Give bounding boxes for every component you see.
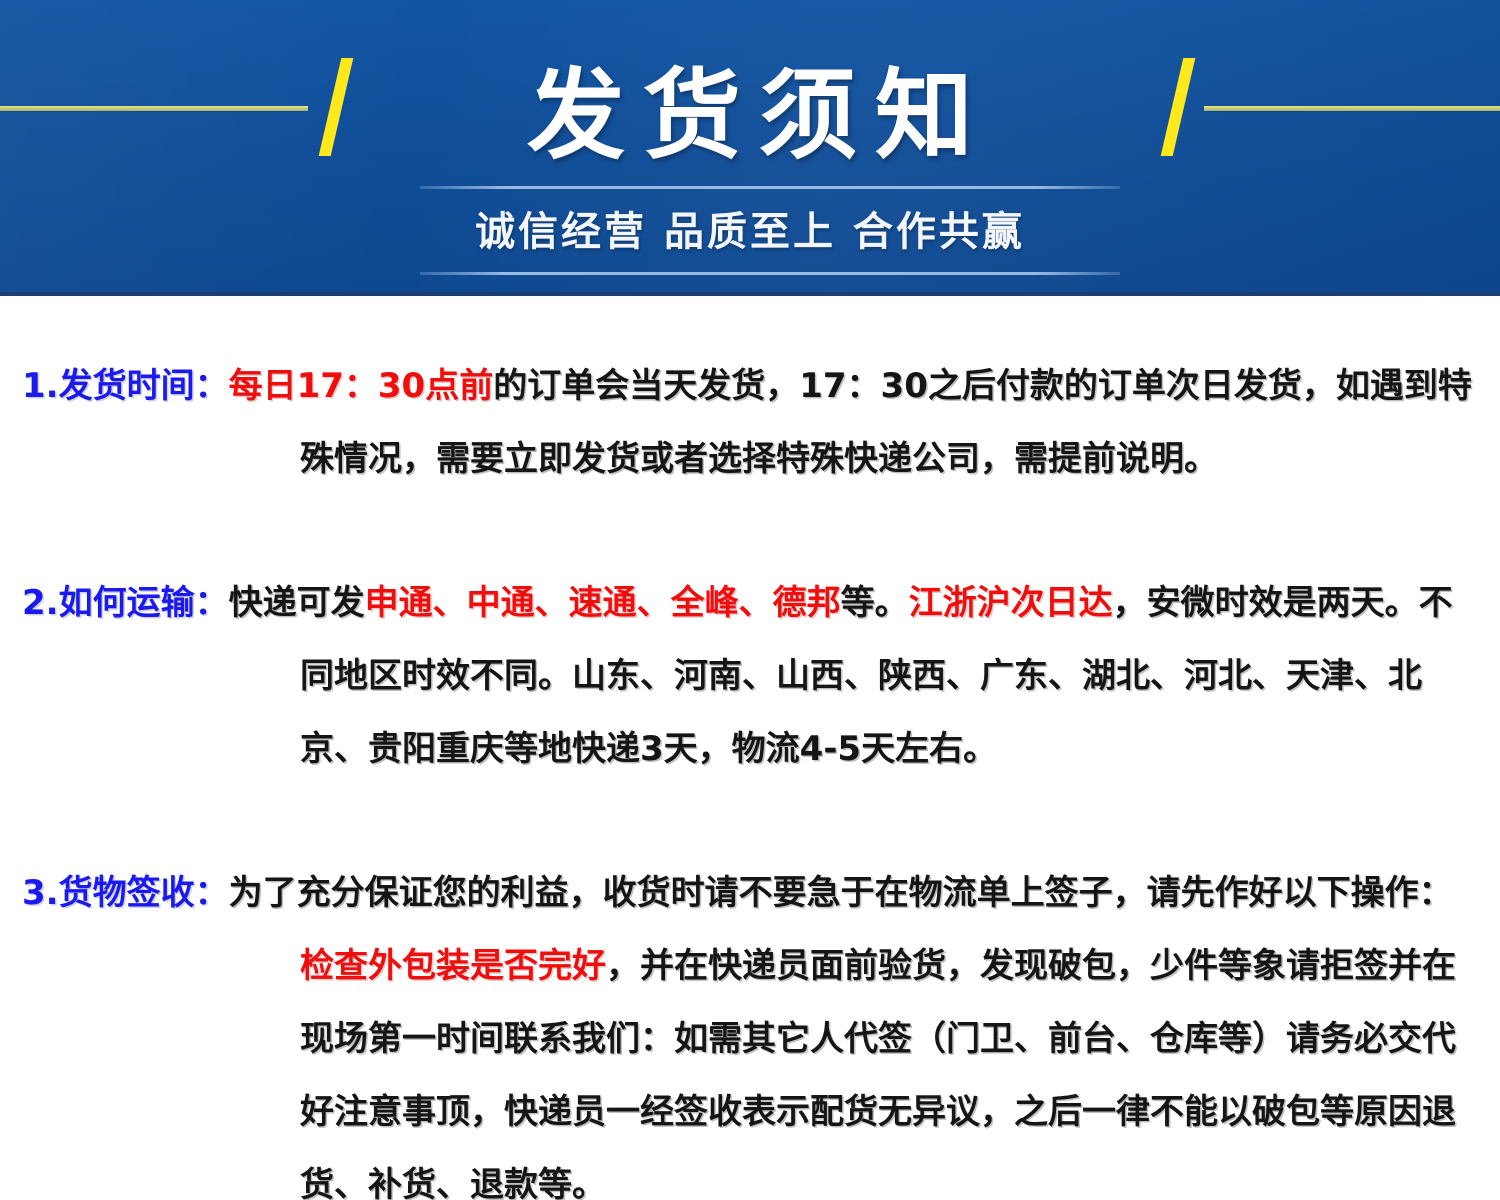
page-title: 发货须知 [0, 62, 1500, 170]
notice-paragraph: 2.如何运输：快递可发申通、中通、速通、全峰、德邦等。江浙沪次日达，安微时效是两… [0, 567, 1500, 786]
notice-paragraph: 1.发货时间：每日17：30点前的订单会当天发货，17：30之后付款的订单次日发… [0, 350, 1500, 496]
section-body: 为了充分保证您的利益，收货时请不要急于在物流单上签子，请先作好以下操作： [229, 873, 1453, 913]
section-label: 3.货物签收： [22, 873, 229, 913]
section-highlight: 申通、中通、速通、全峰、德邦 [365, 583, 841, 623]
subtitle-rule-top [420, 186, 1120, 189]
section-highlight: 每日17：30点前 [229, 366, 494, 406]
shipping-notice-page: 发货须知 诚信经营 品质至上 合作共赢 1.发货时间：每日17：30点前的订单会… [0, 0, 1500, 1200]
notice-section-3: 3.货物签收：为了充分保证您的利益，收货时请不要急于在物流单上签子，请先作好以下… [0, 820, 1500, 1200]
notice-paragraph: 3.货物签收：为了充分保证您的利益，收货时请不要急于在物流单上签子，请先作好以下… [0, 857, 1500, 1200]
notice-section-2: 2.如何运输：快递可发申通、中通、速通、全峰、德邦等。江浙沪次日达，安微时效是两… [0, 530, 1500, 786]
header-banner: 发货须知 诚信经营 品质至上 合作共赢 [0, 0, 1500, 296]
section-highlight: 检查外包装是否完好 [300, 946, 606, 986]
section-body: 快递可发 [229, 583, 365, 623]
page-subtitle: 诚信经营 品质至上 合作共赢 [0, 204, 1500, 260]
section-label: 1.发货时间： [22, 366, 229, 406]
section-body: 等。 [841, 583, 909, 623]
section-highlight: 江浙沪次日达 [909, 583, 1113, 623]
subtitle-rule-bottom [420, 272, 1120, 275]
section-label: 2.如何运输： [22, 583, 229, 623]
notice-section-1: 1.发货时间：每日17：30点前的订单会当天发货，17：30之后付款的订单次日发… [0, 296, 1500, 496]
notice-content: 1.发货时间：每日17：30点前的订单会当天发货，17：30之后付款的订单次日发… [0, 296, 1500, 1200]
